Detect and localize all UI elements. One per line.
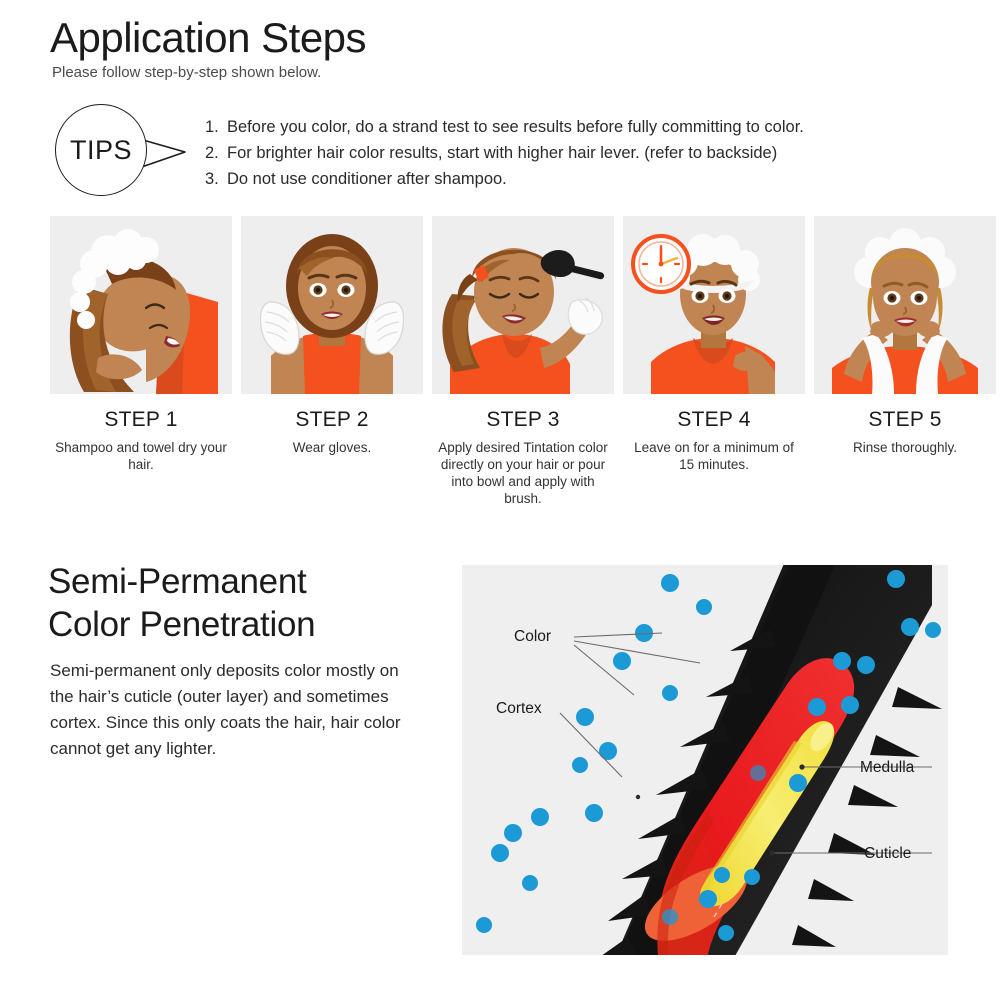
woman-wearing-gloves-icon	[241, 216, 423, 394]
step-caption: Wear gloves.	[241, 439, 423, 456]
step-caption: Shampoo and towel dry your hair.	[50, 439, 232, 473]
step-caption: Apply desired Tintation color directly o…	[432, 439, 614, 507]
tip-number: 3.	[205, 166, 227, 192]
hair-shaft-cross-section-illustration: Color Cortex Medulla Cuticle	[462, 565, 948, 955]
step-5-illustration	[814, 216, 996, 394]
infographic-page: Application Steps Please follow step-by-…	[0, 0, 1000, 1000]
section-title: Semi-Permanent Color Penetration	[48, 560, 448, 646]
woman-applying-color-with-brush-icon	[432, 216, 614, 394]
step-caption: Leave on for a minimum of 15 minutes.	[623, 439, 805, 473]
step-title: STEP 3	[432, 408, 614, 432]
step-2-illustration	[241, 216, 423, 394]
step-title: STEP 5	[814, 408, 996, 432]
tip-item: 3. Do not use conditioner after shampoo.	[205, 166, 965, 192]
step-1-illustration	[50, 216, 232, 394]
page-title: Application Steps	[50, 16, 366, 60]
step-caption: Rinse thoroughly.	[814, 439, 996, 456]
step-title: STEP 4	[623, 408, 805, 432]
step-card: STEP 3 Apply desired Tintation color dir…	[432, 216, 614, 507]
tips-label: TIPS	[70, 135, 132, 166]
diagram-label-cuticle: Cuticle	[864, 845, 911, 862]
diagram-label-medulla: Medulla	[860, 759, 915, 776]
section-title-line1: Semi-Permanent	[48, 560, 448, 603]
tip-text: Do not use conditioner after shampoo.	[227, 166, 965, 192]
tip-number: 1.	[205, 114, 227, 140]
step-card: STEP 1 Shampoo and towel dry your hair.	[50, 216, 232, 507]
hair-structure-diagram: Color Cortex Medulla Cuticle	[462, 565, 948, 955]
tips-badge: TIPS	[55, 104, 190, 200]
steps-strip: STEP 1 Shampoo and towel dry your hair.	[50, 216, 950, 507]
woman-with-towel-rinsed-icon	[814, 216, 996, 394]
tip-text: Before you color, do a strand test to se…	[227, 114, 965, 140]
step-title: STEP 2	[241, 408, 423, 432]
tip-item: 1. Before you color, do a strand test to…	[205, 114, 965, 140]
page-subtitle: Please follow step-by-step shown below.	[52, 64, 321, 81]
step-card: STEP 5 Rinse thoroughly.	[814, 216, 996, 507]
woman-shampooing-hair-icon	[50, 216, 232, 394]
woman-with-shower-cap-and-clock-icon	[623, 216, 805, 394]
tips-circle: TIPS	[55, 104, 147, 196]
step-card: STEP 2 Wear gloves.	[241, 216, 423, 507]
step-3-illustration	[432, 216, 614, 394]
section-title-line2: Color Penetration	[48, 603, 448, 646]
diagram-label-cortex: Cortex	[496, 700, 542, 717]
step-4-illustration	[623, 216, 805, 394]
tip-number: 2.	[205, 140, 227, 166]
diagram-label-color: Color	[514, 628, 551, 645]
tip-item: 2. For brighter hair color results, star…	[205, 140, 965, 166]
tip-text: For brighter hair color results, start w…	[227, 140, 965, 166]
section-body: Semi-permanent only deposits color mostl…	[50, 658, 418, 762]
step-card: STEP 4 Leave on for a minimum of 15 minu…	[623, 216, 805, 507]
tips-list: 1. Before you color, do a strand test to…	[205, 114, 965, 192]
step-title: STEP 1	[50, 408, 232, 432]
